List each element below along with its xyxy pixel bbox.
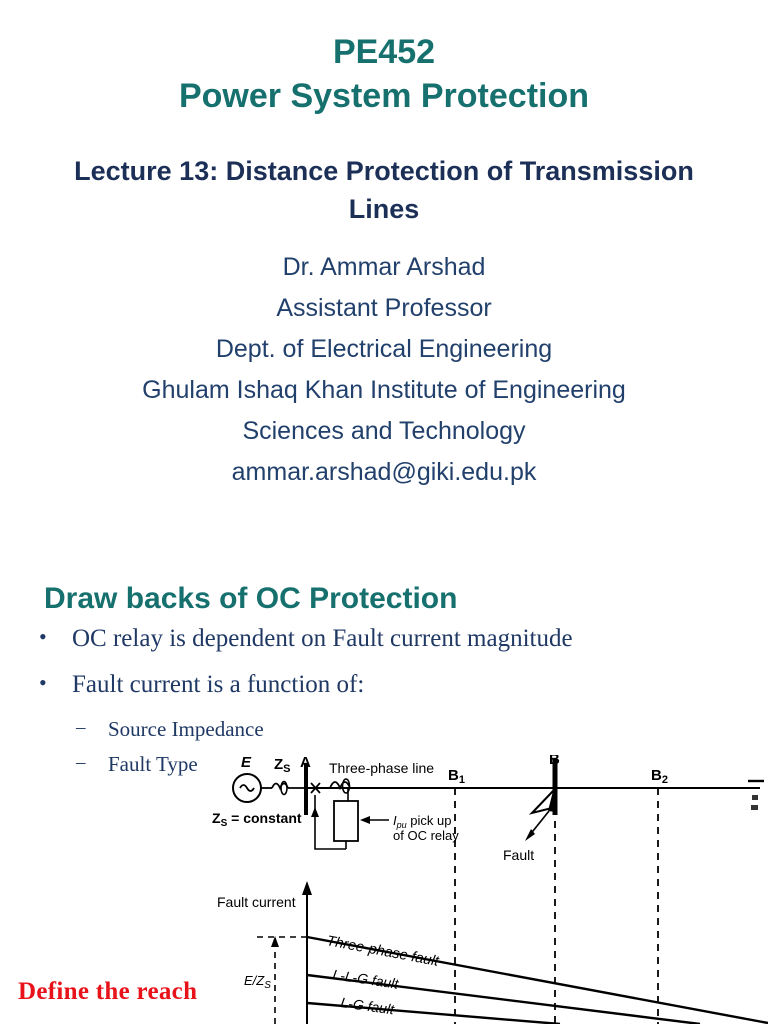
lecture-title: Lecture 13: Distance Protection of Trans… (70, 152, 698, 228)
chart-y-axis-label: Fault current (217, 894, 296, 910)
lecture-title-line-1: Lecture 13: Distance Protection of (74, 156, 512, 186)
list-item: • Fault current is a function of: (34, 670, 734, 700)
presenter-institute-line-2: Sciences and Technology (40, 411, 728, 452)
presenter-email[interactable]: ammar.arshad@giki.edu.pk (40, 452, 728, 493)
bus-b2-label: B2 (651, 767, 668, 786)
course-name: Power System Protection (0, 74, 768, 118)
presenter-designation: Assistant Professor (40, 288, 728, 329)
fault-label: Fault (503, 847, 534, 863)
ezs-label: E/ZS (244, 973, 271, 991)
ac-source-icon (233, 774, 261, 802)
fault-current-chart: Fault current E/ZS Three-phase fault L-L… (217, 881, 768, 1024)
zs-label: ZS (274, 756, 291, 775)
section-heading: Draw backs of OC Protection (44, 582, 457, 616)
bus-b1-label: B1 (448, 767, 465, 786)
cropped-edge-marks (748, 781, 764, 810)
slide-deck-page: PE452 Power System Protection Lecture 13… (0, 0, 768, 1024)
list-item-label: Fault current is a function of: (72, 671, 364, 698)
presenter-name: Dr. Ammar Arshad (40, 247, 728, 288)
course-code: PE452 (333, 33, 435, 71)
curve-label-llg-fault: L-L-G fault (332, 966, 401, 992)
chart-y-axis-arrow-icon (302, 881, 312, 895)
bullet-dash-icon: – (76, 715, 86, 741)
fault-marker-icon (525, 791, 556, 841)
zs-constant-label: ZS = constant (212, 810, 302, 829)
bus-b-label: B (549, 755, 560, 768)
current-transformer-icon (330, 779, 350, 793)
presenter-department: Dept. of Electrical Engineering (40, 329, 728, 370)
list-item-label: OC relay is dependent on Fault current m… (72, 625, 573, 652)
bullet-dot-icon: • (39, 622, 47, 652)
course-title: PE452 Power System Protection (0, 30, 768, 118)
presenter-institute-line-1: Ghulam Ishaq Khan Institute of Engineeri… (40, 370, 728, 411)
curve-label-three-phase-fault: Three-phase fault (325, 933, 441, 970)
three-phase-line-label: Three-phase line (329, 760, 434, 776)
sub-list-item-label: Source Impedance (108, 717, 264, 741)
one-line-diagram: E ZS ZS = constant A B B1 B2 Three-phase… (212, 755, 764, 1024)
list-item: • OC relay is dependent on Fault current… (34, 624, 734, 654)
bus-a-label: A (300, 755, 311, 771)
define-reach-note: Define the reach (18, 978, 197, 1006)
presenter-block: Dr. Ammar Arshad Assistant Professor Dep… (40, 247, 728, 493)
relay-pickup-label-line-2: of OC relay (393, 828, 459, 843)
relay-callout-arrow-icon (360, 816, 389, 824)
oc-relay-box (311, 788, 358, 849)
source-impedance-icon (272, 782, 288, 795)
sub-list-item: – Source Impedance (34, 716, 734, 742)
title-slide: PE452 Power System Protection Lecture 13… (0, 0, 768, 500)
source-label: E (241, 755, 252, 771)
bullet-dot-icon: • (39, 668, 47, 698)
curve-label-lg-fault: L-G fault (340, 994, 396, 1017)
